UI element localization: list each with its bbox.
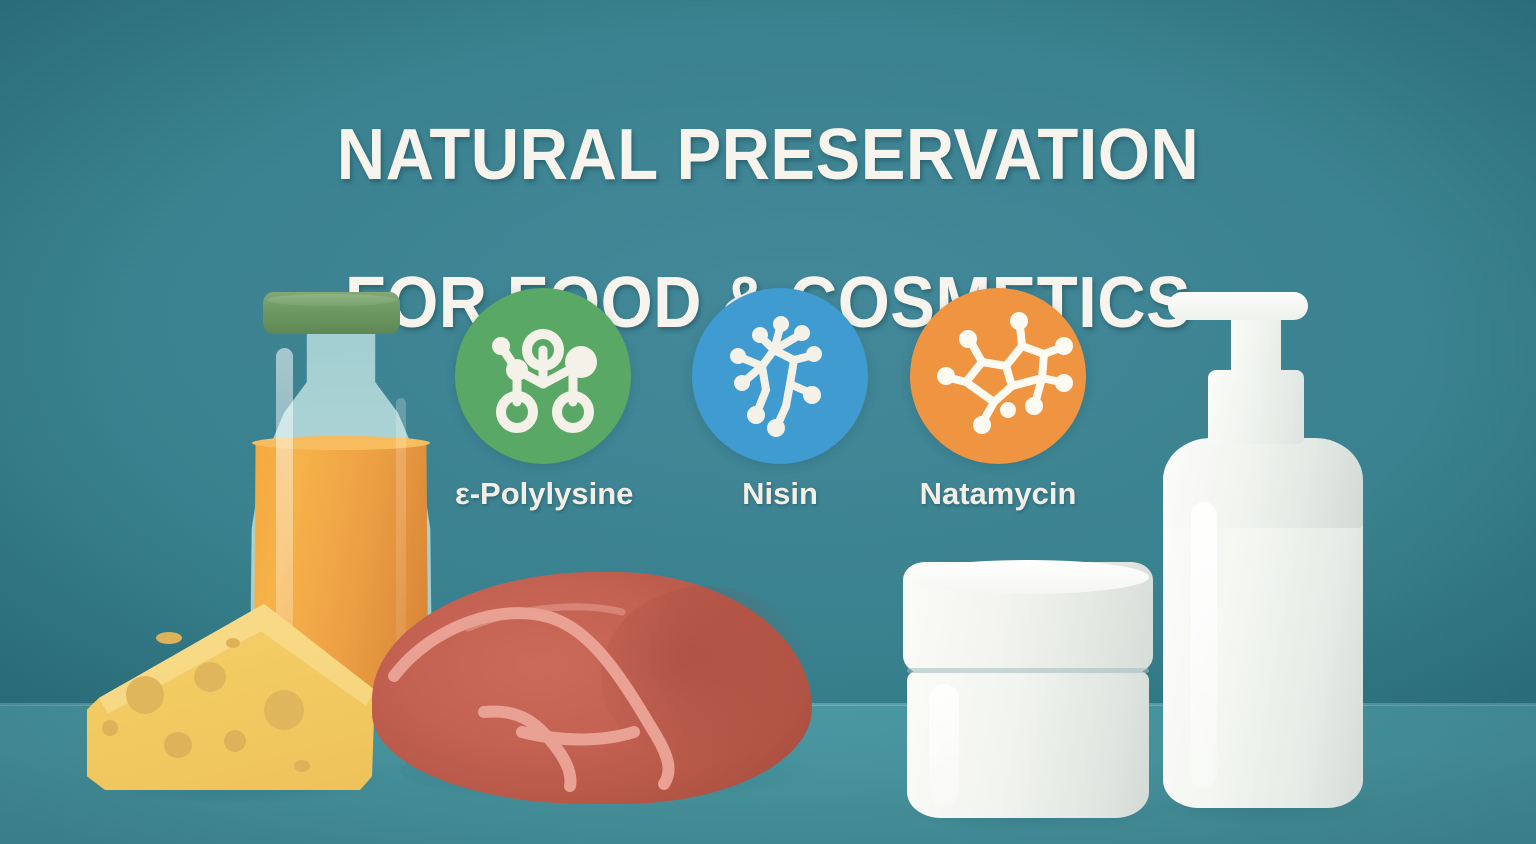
cheese-hole [102, 720, 118, 736]
molecule-icon [455, 288, 631, 464]
pump-bottle [1163, 292, 1363, 812]
ingredient-badge-group: ε-Polylysine [455, 288, 1105, 518]
jar-lid-top [907, 560, 1149, 594]
ingredient-label: Nisin [692, 476, 868, 512]
jar-highlight [929, 684, 959, 806]
molecule-icon [692, 288, 868, 464]
cheese-hole [294, 760, 310, 772]
cheese-hole [224, 730, 246, 752]
cosmetic-jar [903, 562, 1153, 820]
cheese-hole [164, 732, 192, 758]
bottle-cap [263, 292, 400, 334]
pump-bottle-highlight [1191, 502, 1217, 788]
pump-nozzle[interactable] [1168, 292, 1308, 320]
jar-seam [907, 668, 1149, 673]
ingredient-label: ε-Polylysine [455, 476, 631, 512]
title-line-1: NATURAL PRESERVATION [54, 118, 1482, 192]
meat-fat-lines [372, 572, 812, 804]
cheese-wedge [78, 596, 378, 792]
cheese-hole [264, 690, 304, 730]
meat-cut [372, 572, 812, 804]
molecule-icon [910, 288, 1086, 464]
cheese-hole [194, 662, 226, 692]
ingredient-badge-nisin[interactable]: Nisin [692, 288, 868, 512]
cheese-hole [156, 632, 182, 644]
ingredient-badge-natamycin[interactable]: Natamycin [910, 288, 1086, 512]
poster-canvas: NATURAL PRESERVATION FOR FOOD & COSMETIC… [0, 0, 1536, 844]
ingredient-badge-polylysine[interactable]: ε-Polylysine [455, 288, 631, 512]
cheese-hole [126, 676, 164, 714]
pump-stem [1231, 310, 1281, 382]
ingredient-label: Natamycin [910, 476, 1086, 512]
cheese-hole [226, 638, 240, 648]
